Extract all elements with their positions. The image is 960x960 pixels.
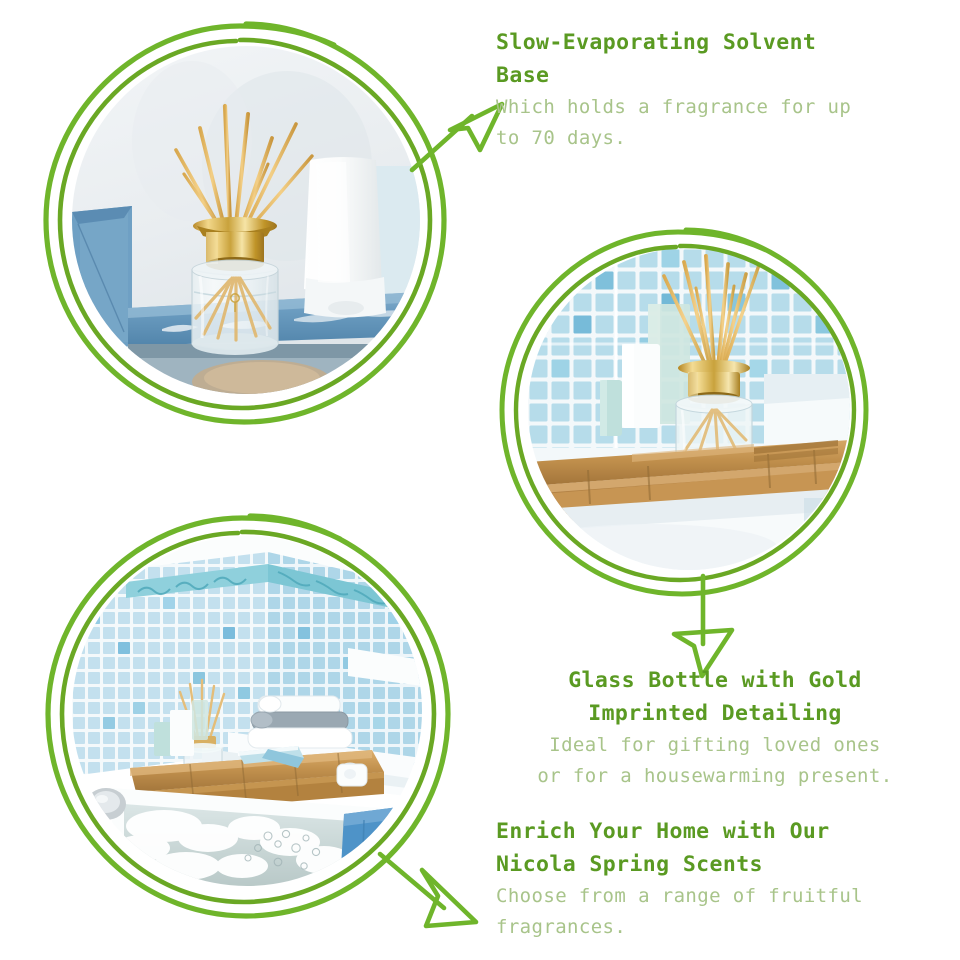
heading-line: Glass Bottle with Gold <box>480 664 950 697</box>
body-line: Ideal for gifting loved ones <box>480 730 950 761</box>
feature-text-glass-bottle: Glass Bottle with Gold Imprinted Detaili… <box>480 664 950 792</box>
heading-line: Nicola Spring Scents <box>496 848 946 881</box>
photo-diffuser-on-bath-caddy <box>528 248 850 570</box>
photo-art-diffuser-table <box>72 46 420 394</box>
body-line: to 70 days. <box>496 123 936 154</box>
feature-text-enrich-home: Enrich Your Home with Our Nicola Spring … <box>496 815 946 943</box>
heading-line: Imprinted Detailing <box>480 697 950 730</box>
body-line: or for a housewarming present. <box>480 761 950 792</box>
feature-text-solvent-base: Slow-Evaporating Solvent Base Which hold… <box>496 26 936 154</box>
photo-art-caddy-diffuser <box>528 248 850 570</box>
feature-heading-glass-bottle: Glass Bottle with Gold Imprinted Detaili… <box>480 664 950 730</box>
arrow-to-enrich-home <box>372 830 502 950</box>
panel-bathroom-bubble-bath <box>38 506 458 926</box>
heading-line: Base <box>496 59 936 92</box>
infographic-canvas: Slow-Evaporating Solvent Base Which hold… <box>0 0 960 960</box>
photo-diffuser-on-blue-table <box>72 46 420 394</box>
panel-diffuser-on-bath-caddy <box>492 222 874 604</box>
photo-bathroom-bubble-bath <box>72 536 422 886</box>
feature-heading-solvent-base: Slow-Evaporating Solvent Base <box>496 26 936 92</box>
feature-heading-enrich-home: Enrich Your Home with Our Nicola Spring … <box>496 815 946 881</box>
feature-body-solvent-base: Which holds a fragrance for up to 70 day… <box>496 92 936 154</box>
body-line: Which holds a fragrance for up <box>496 92 936 123</box>
photo-art-bathroom <box>72 536 422 886</box>
heading-line: Slow-Evaporating Solvent <box>496 26 936 59</box>
feature-body-glass-bottle: Ideal for gifting loved ones or for a ho… <box>480 730 950 792</box>
panel-diffuser-on-blue-table <box>34 14 454 434</box>
heading-line: Enrich Your Home with Our <box>496 815 946 848</box>
feature-body-enrich-home: Choose from a range of fruitful fragranc… <box>496 881 946 943</box>
body-line: Choose from a range of fruitful <box>496 881 946 912</box>
body-line: fragrances. <box>496 912 946 943</box>
